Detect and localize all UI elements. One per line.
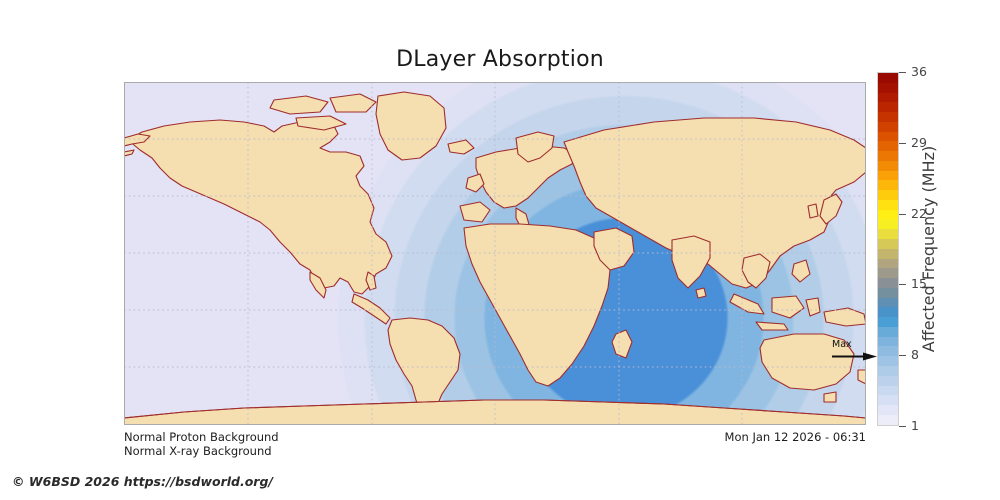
land-tasmania [824, 392, 836, 402]
colorbar-tick: 1 [899, 426, 959, 427]
proton-background-note: Normal Proton Background [124, 430, 279, 444]
colorbar-tick-label: 1 [911, 417, 919, 435]
footer-credit: © W6BSD 2026 https://bsdworld.org/ [12, 474, 273, 489]
max-marker-label: Max [832, 340, 852, 350]
right-arrow-icon [831, 352, 877, 361]
map-canvas [124, 82, 866, 425]
xray-background-note: Normal X-ray Background [124, 444, 272, 458]
dlayer-absorption-figure: DLayer Absorption [0, 0, 1000, 500]
colorbar-tick-label: 8 [911, 346, 919, 364]
colorbar-axis-label: Affected Frequency (MHz) [919, 72, 941, 426]
world-map[interactable] [124, 82, 866, 425]
land-korea [808, 204, 818, 218]
timestamp: Mon Jan 12 2026 - 06:31 [567, 430, 866, 444]
land-sri-lanka [696, 288, 706, 298]
page-title: DLayer Absorption [0, 47, 1000, 72]
colorbar-max-marker: Max [828, 340, 888, 366]
